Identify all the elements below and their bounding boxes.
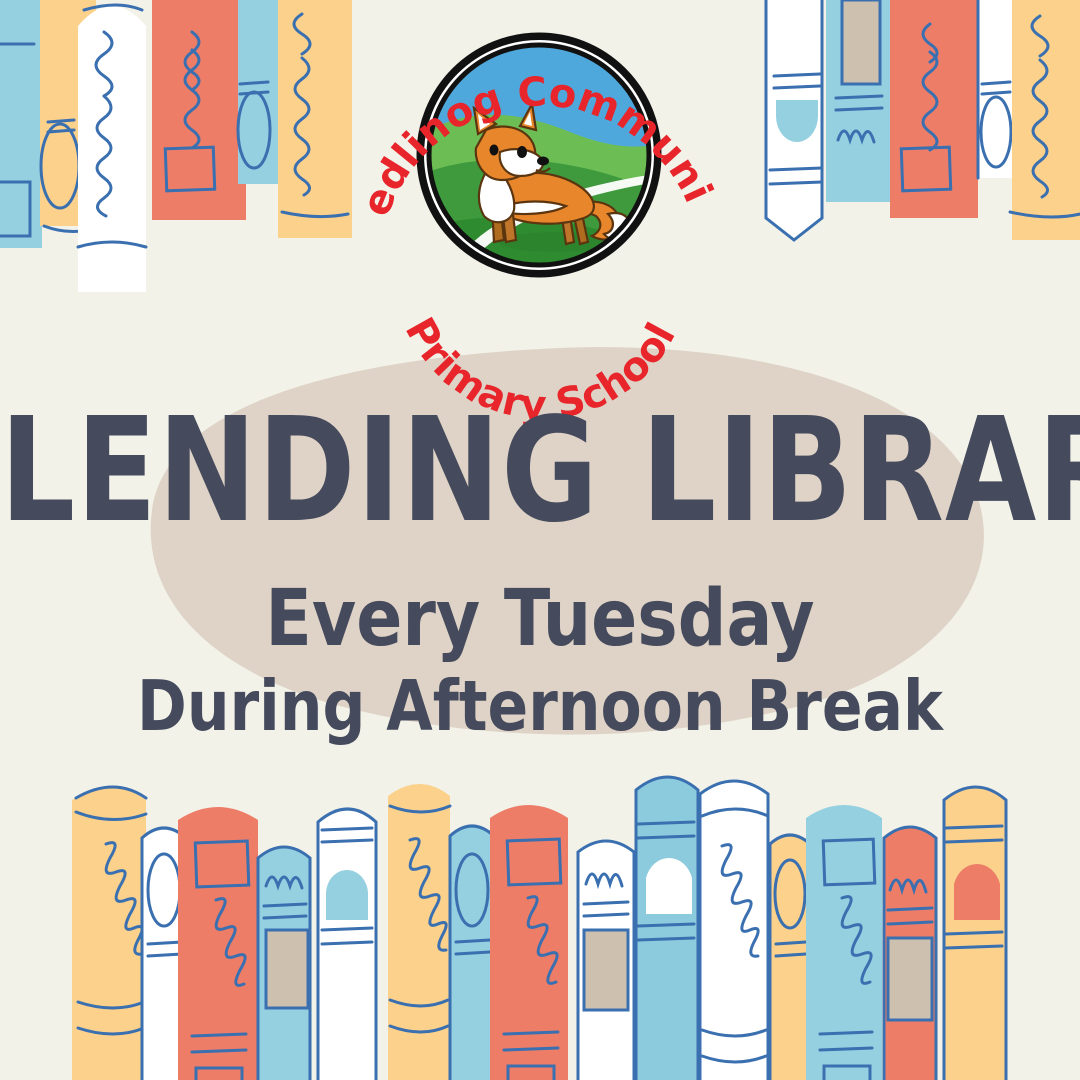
school-logo: Bedlinog Community Primary School: [0, 0, 1080, 1080]
poster-canvas: Bedlinog Community Primary School: [0, 0, 1080, 1080]
logo-text-bottom: Primary School: [396, 310, 685, 429]
